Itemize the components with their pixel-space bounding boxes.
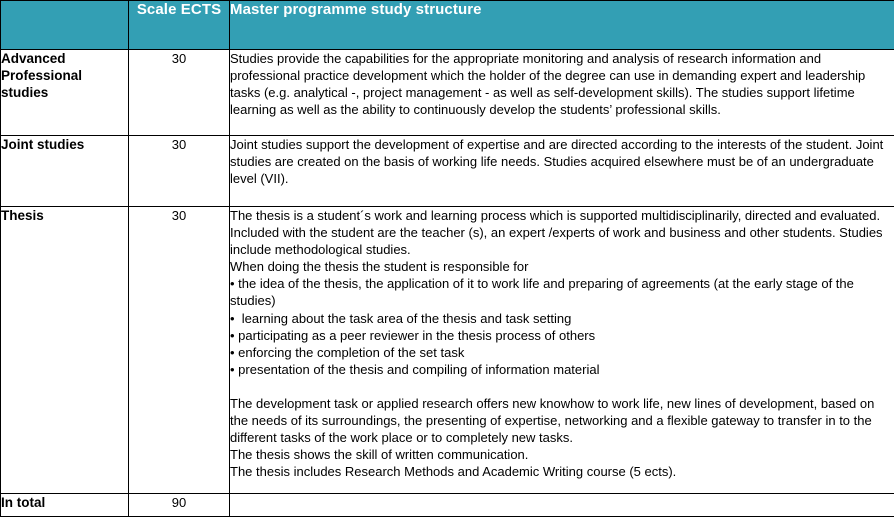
list-item: • learning about the task area of the th… — [230, 310, 894, 327]
description-paragraph: When doing the thesis the student is res… — [230, 258, 894, 275]
row-description-joint: Joint studies support the development of… — [230, 136, 894, 207]
table-row-thesis: Thesis 30 The thesis is a student´s work… — [1, 207, 894, 494]
description-paragraph: The thesis is a student´s work and learn… — [230, 207, 894, 258]
table-row-joint-studies: Joint studies 30 Joint studies support t… — [1, 136, 894, 207]
row-ects-total: 90 — [129, 494, 230, 517]
row-name-total: In total — [1, 494, 129, 517]
row-description-thesis: The thesis is a student´s work and learn… — [230, 207, 894, 494]
row-ects-thesis: 30 — [129, 207, 230, 494]
study-structure-table: Scale ECTS Master programme study struct… — [0, 0, 894, 517]
table-row-in-total: In total 90 — [1, 494, 894, 517]
thesis-responsibility-list: • the idea of the thesis, the applicatio… — [230, 275, 894, 378]
row-description-advanced: Studies provide the capabilities for the… — [230, 50, 894, 136]
header-cell-blank — [1, 1, 129, 50]
row-name-joint: Joint studies — [1, 136, 129, 207]
row-description-total — [230, 494, 894, 517]
list-item: • the idea of the thesis, the applicatio… — [230, 275, 894, 309]
list-item: • enforcing the completion of the set ta… — [230, 344, 894, 361]
description-paragraph: The thesis includes Research Methods and… — [230, 463, 894, 480]
description-paragraph: Studies provide the capabilities for the… — [230, 50, 894, 118]
list-item: • presentation of the thesis and compili… — [230, 361, 894, 378]
header-cell-scale-ects: Scale ECTS — [129, 1, 230, 50]
row-name-advanced: Advanced Professional studies — [1, 50, 129, 136]
description-paragraph: The thesis shows the skill of written co… — [230, 446, 894, 463]
list-item: • participating as a peer reviewer in th… — [230, 327, 894, 344]
row-name-thesis: Thesis — [1, 207, 129, 494]
row-ects-advanced: 30 — [129, 50, 230, 136]
description-paragraph: The development task or applied research… — [230, 395, 894, 446]
table-header-row: Scale ECTS Master programme study struct… — [1, 1, 894, 50]
header-cell-study-structure: Master programme study structure — [230, 1, 894, 50]
description-paragraph: Joint studies support the development of… — [230, 136, 894, 187]
table-row-advanced-professional-studies: Advanced Professional studies 30 Studies… — [1, 50, 894, 136]
row-ects-joint: 30 — [129, 136, 230, 207]
